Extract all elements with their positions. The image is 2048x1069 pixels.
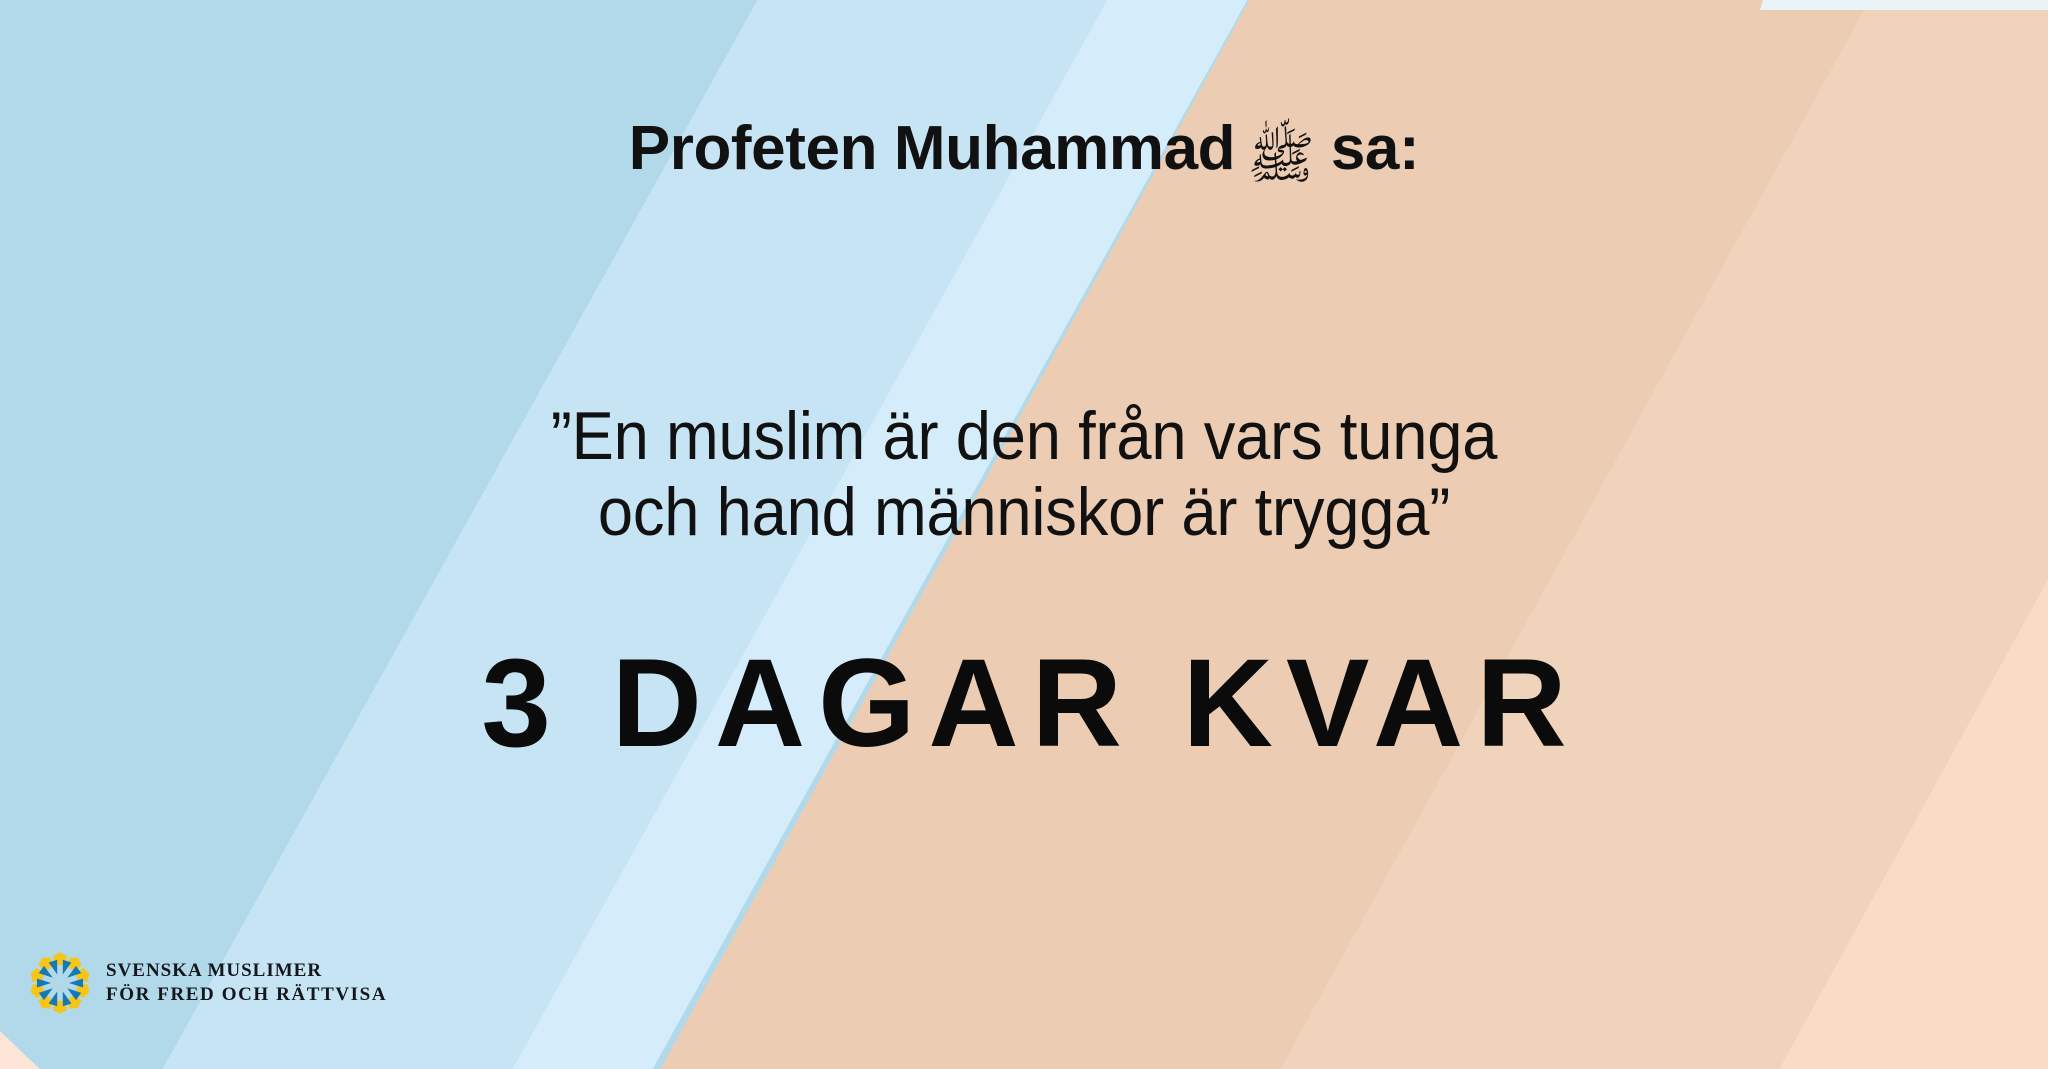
countdown-headline: 3 DAGAR KVAR	[0, 641, 2048, 766]
quote-line-2: och hand människor är trygga”	[72, 474, 1977, 550]
smfr-rosette-logo-icon	[28, 951, 92, 1015]
organisation-logo[interactable]: SVENSKA MUSLIMER FÖR FRED OCH RÄTTVISA	[28, 951, 387, 1015]
quote-line-1: ”En muslim är den från vars tunga	[72, 398, 1977, 474]
wordmark-line-1: SVENSKA MUSLIMER	[106, 959, 387, 983]
wordmark-line-2: FÖR FRED OCH RÄTTVISA	[106, 983, 387, 1007]
organisation-wordmark: SVENSKA MUSLIMER FÖR FRED OCH RÄTTVISA	[106, 959, 387, 1008]
poster-canvas: Profeten Muhammadﷺsa: ”En muslim är den …	[0, 0, 2048, 1069]
heading-prophet-name: Profeten Muhammad	[629, 114, 1235, 183]
hadith-quote: ”En muslim är den från vars tunga och ha…	[72, 398, 1977, 550]
heading-said-label: sa:	[1331, 114, 1419, 183]
page-title: Profeten Muhammadﷺsa:	[0, 116, 2048, 185]
poster-content: Profeten Muhammadﷺsa: ”En muslim är den …	[0, 0, 2048, 1069]
salawat-calligraphy-icon: ﷺ	[1247, 131, 1315, 187]
rosette-petals	[29, 952, 92, 1013]
rosette-rays	[37, 960, 83, 1007]
